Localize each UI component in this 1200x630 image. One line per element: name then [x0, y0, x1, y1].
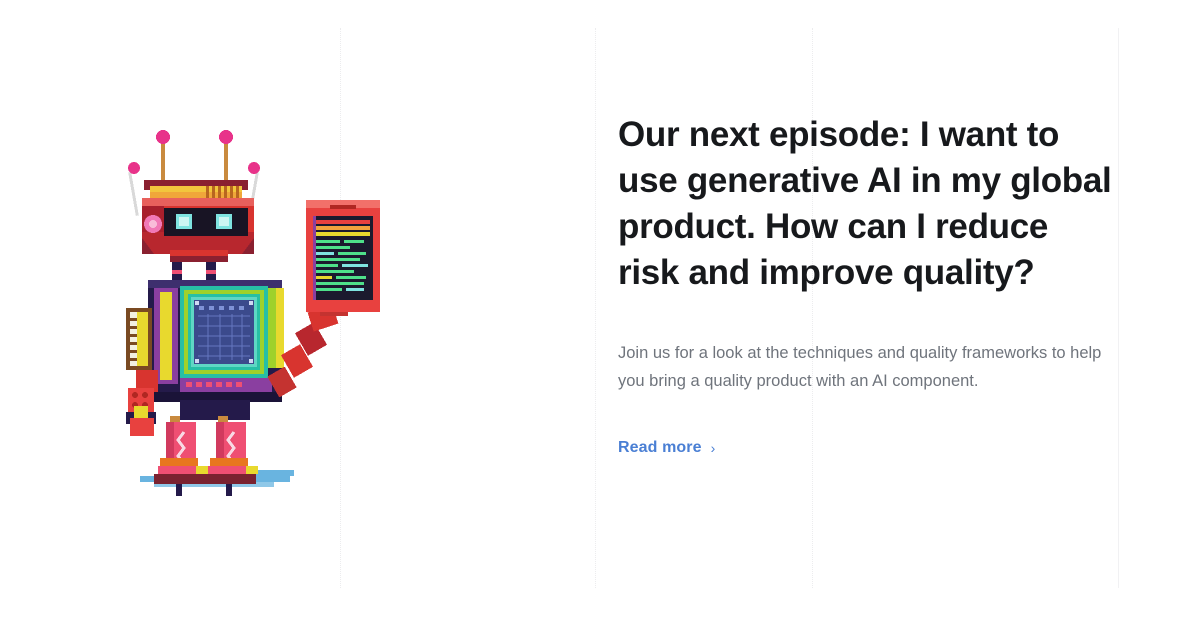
read-more-label: Read more [618, 439, 702, 457]
robot-neck [172, 262, 216, 282]
robot-holding-tablet-illustration [120, 120, 390, 510]
robot-arm-with-tablet [267, 200, 380, 397]
chevron-right-icon: › [711, 441, 716, 455]
promo-description: Join us for a look at the techniques and… [618, 339, 1103, 395]
promo-card: Our next episode: I want to use generati… [0, 0, 1200, 630]
gridline-2 [595, 28, 596, 588]
gridline-4 [1118, 28, 1119, 588]
promo-content: Our next episode: I want to use generati… [618, 112, 1113, 457]
read-more-link[interactable]: Read more › [618, 439, 715, 457]
robot-left-arm [126, 370, 158, 436]
robot-feet [154, 458, 258, 484]
page-title: Our next episode: I want to use generati… [618, 112, 1113, 296]
robot-head [142, 180, 254, 262]
